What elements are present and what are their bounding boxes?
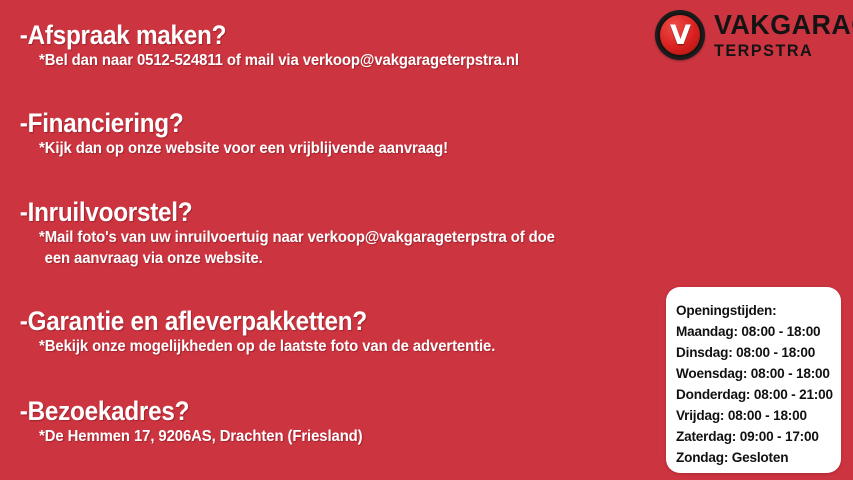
- badge-letter: V: [655, 10, 705, 60]
- opening-hours-row-friday: Vrijdag: 08:00 - 18:00: [676, 405, 836, 426]
- opening-hours-row-tuesday: Dinsdag: 08:00 - 18:00: [676, 342, 836, 363]
- faq-heading: -Garantie en afleverpakketten?: [0, 306, 594, 336]
- opening-hours-row-wednesday: Woensdag: 08:00 - 18:00: [676, 363, 836, 384]
- faq-heading: -Bezoekadres?: [0, 396, 594, 426]
- opening-hours-row-saturday: Zaterdag: 09:00 - 17:00: [676, 426, 836, 447]
- advertisement-poster: V VAKGARAGE TERPSTRA -Afspraak maken? *B…: [0, 0, 853, 480]
- faq-detail-line: een aanvraag via onze website.: [0, 248, 614, 269]
- faq-block-inruilvoorstel: -Inruilvoorstel? *Mail foto's van uw inr…: [0, 197, 660, 269]
- faq-heading: -Inruilvoorstel?: [0, 197, 594, 227]
- opening-hours-row-thursday: Donderdag: 08:00 - 21:00: [676, 384, 836, 405]
- faq-detail-line: *Bekijk onze mogelijkheden op de laatste…: [0, 336, 614, 357]
- faq-block-garantie: -Garantie en afleverpakketten? *Bekijk o…: [0, 306, 660, 357]
- faq-heading: -Afspraak maken?: [0, 20, 594, 50]
- opening-hours-row-sunday: Zondag: Gesloten: [676, 447, 836, 468]
- faq-block-financiering: -Financiering? *Kijk dan op onze website…: [0, 108, 660, 159]
- opening-hours-row-monday: Maandag: 08:00 - 18:00: [676, 321, 836, 342]
- faq-detail-line: *Bel dan naar 0512-524811 of mail via ve…: [0, 50, 614, 71]
- faq-detail-line: *Mail foto's van uw inruilvoertuig naar …: [0, 227, 614, 248]
- logo-dealer-name: TERPSTRA: [714, 42, 853, 59]
- faq-block-afspraak: -Afspraak maken? *Bel dan naar 0512-5248…: [0, 20, 660, 71]
- faq-detail-line: *Kijk dan op onze website voor een vrijb…: [0, 138, 614, 159]
- vakgarage-v-badge-icon: V: [655, 10, 705, 60]
- opening-hours-title: Openingstijden:: [676, 300, 836, 321]
- logo-wordmark: VAKGARAGE TERPSTRA: [714, 11, 853, 59]
- vakgarage-logo: V VAKGARAGE TERPSTRA: [655, 6, 847, 64]
- faq-heading: -Financiering?: [0, 108, 594, 138]
- faq-block-bezoekadres: -Bezoekadres? *De Hemmen 17, 9206AS, Dra…: [0, 396, 660, 447]
- logo-brand-name: VAKGARAGE: [714, 11, 853, 39]
- opening-hours-card: Openingstijden: Maandag: 08:00 - 18:00 D…: [666, 287, 841, 473]
- faq-detail-line: *De Hemmen 17, 9206AS, Drachten (Friesla…: [0, 426, 614, 447]
